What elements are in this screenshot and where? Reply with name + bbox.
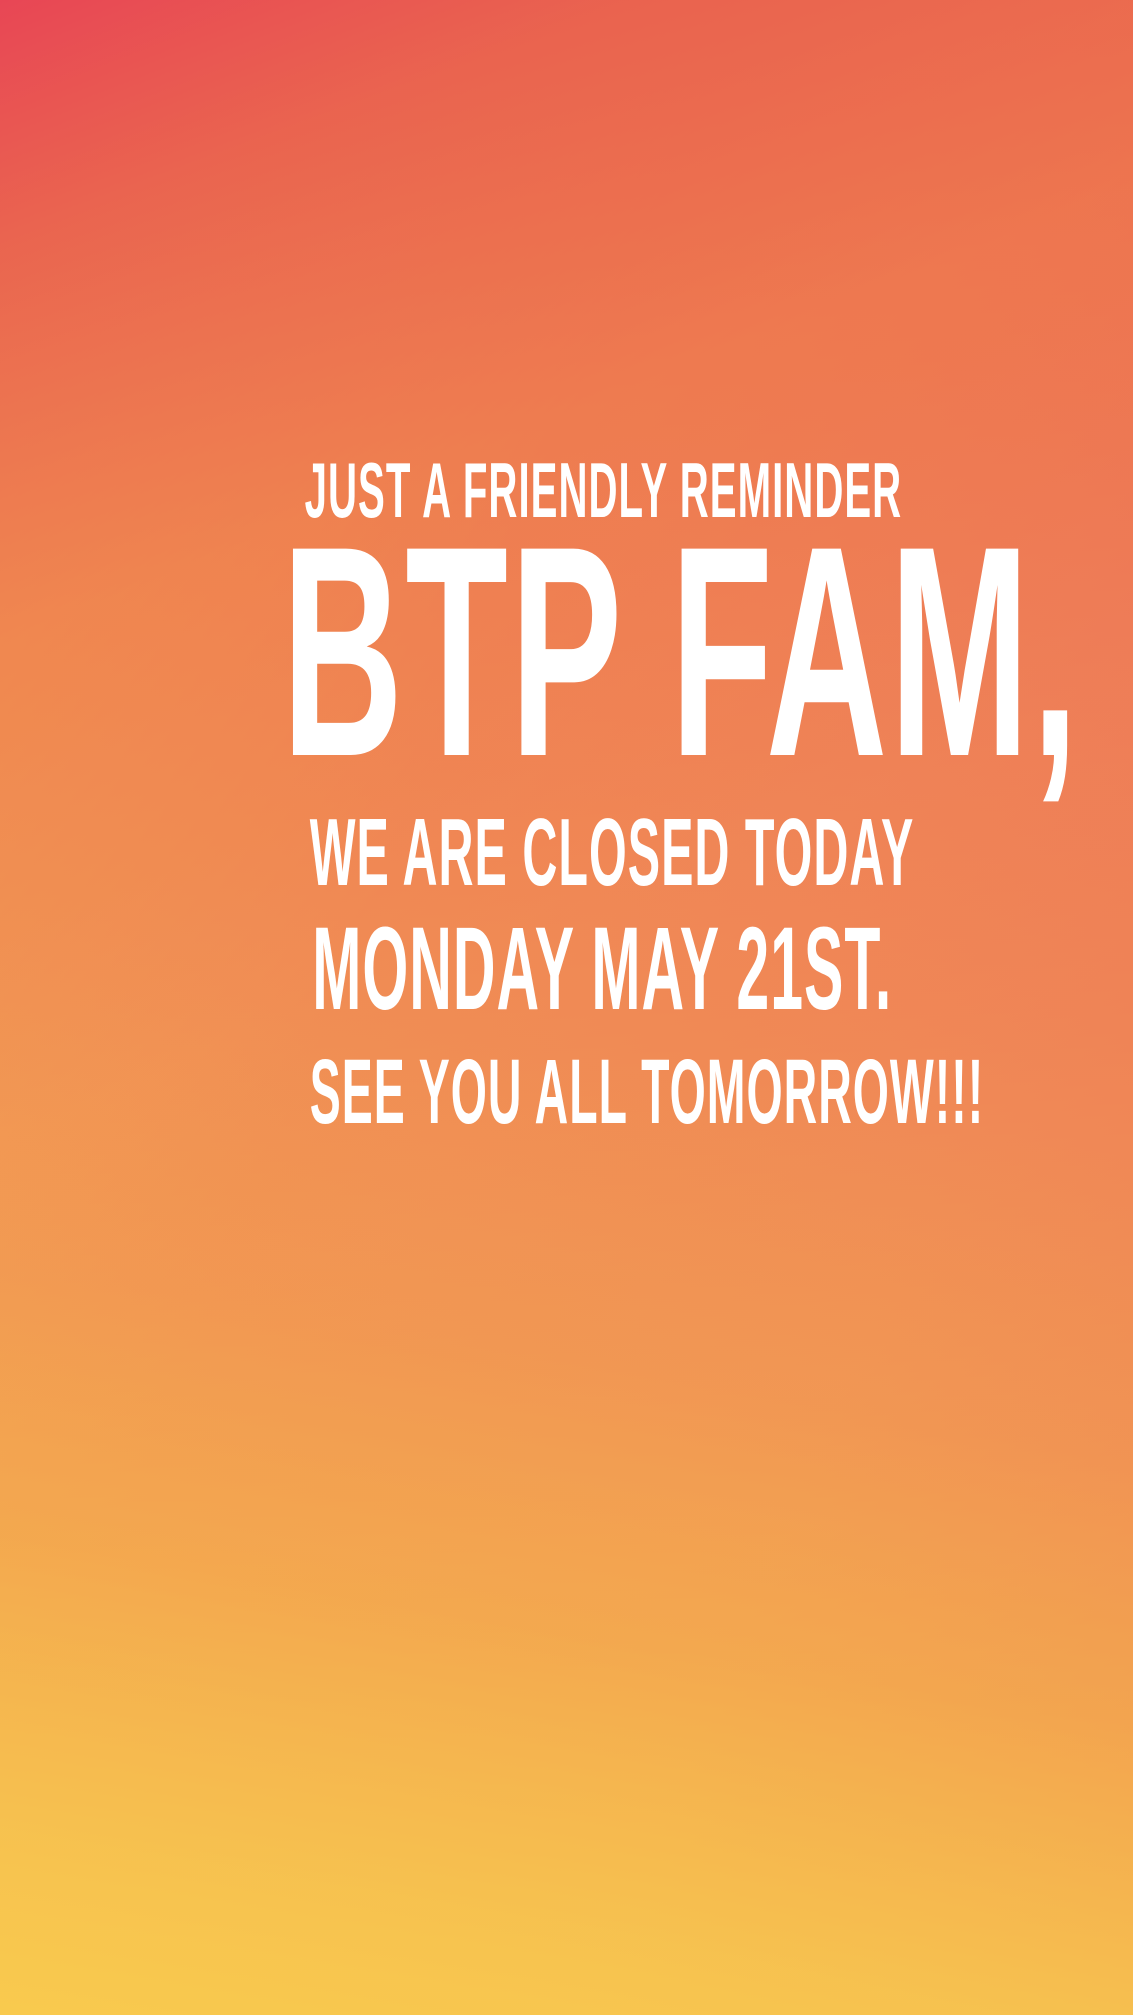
headline-line: BTP FAM, xyxy=(282,531,852,771)
body-line-1: WE ARE CLOSED TODAY xyxy=(310,809,824,897)
announcement-poster: JUST A FRIENDLY REMINDER BTP FAM, WE ARE… xyxy=(0,0,1133,2015)
body-line-3: SEE YOU ALL TOMORROW!!! xyxy=(310,1050,824,1135)
body-line-2: MONDAY MAY 21ST. xyxy=(312,915,821,1024)
announcement-message: JUST A FRIENDLY REMINDER BTP FAM, WE ARE… xyxy=(0,455,1133,1134)
